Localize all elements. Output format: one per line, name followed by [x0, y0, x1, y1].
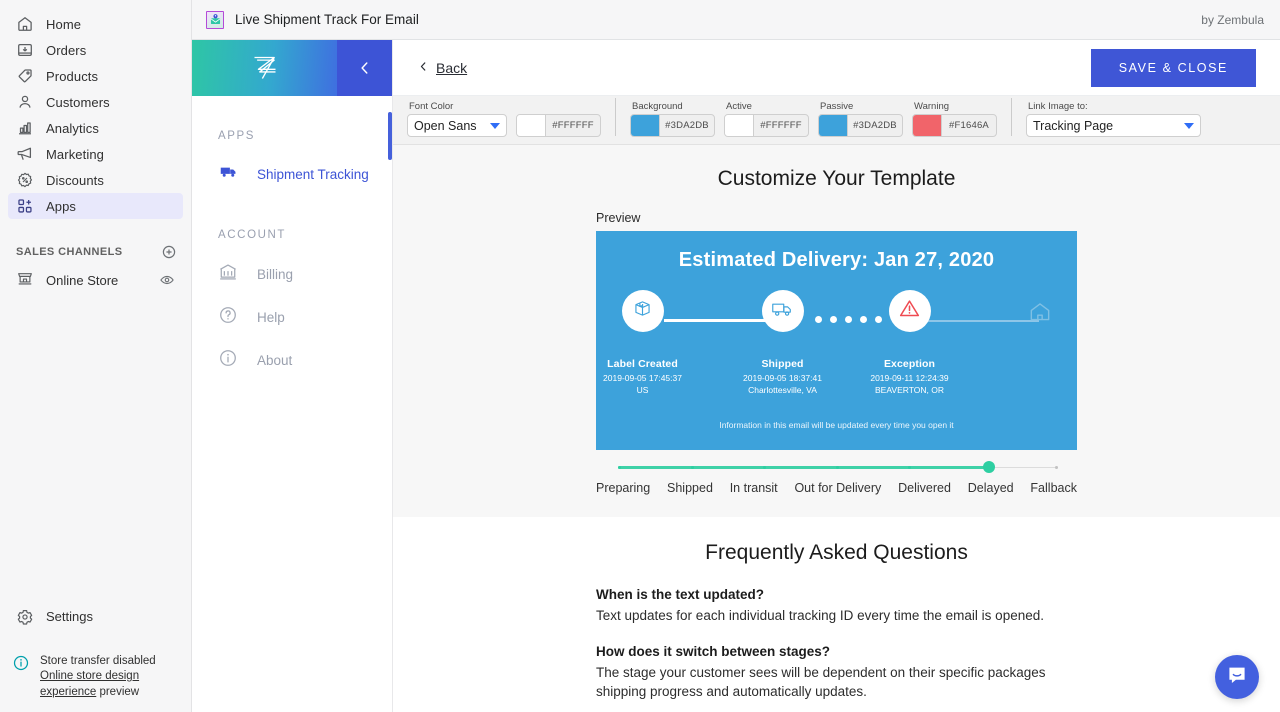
stage-slider-thumb[interactable]: [983, 461, 995, 473]
embedded-app: Live Shipment Track For Email by Zembula: [192, 0, 1280, 712]
faq-question: How does it switch between stages?: [596, 644, 1077, 659]
warning-swatch[interactable]: #F1646A: [912, 114, 997, 137]
store-transfer-line1: Store transfer disabled: [40, 655, 156, 667]
font-color-swatch-field: #FFFFFF: [516, 101, 601, 137]
step-name: Exception: [835, 358, 985, 370]
add-channel-plus-icon[interactable]: [161, 244, 177, 260]
link-image-field: Link Image to: Tracking Page: [1026, 101, 1201, 137]
font-color-field: Font Color Open Sans: [407, 101, 507, 137]
sales-channels-header: SALES CHANNELS: [0, 241, 191, 263]
faq-list: When is the text updated? Text updates f…: [596, 587, 1077, 701]
track-line-dim: [917, 320, 1039, 322]
stage-slider[interactable]: Preparing Shipped In transit Out for Del…: [596, 462, 1077, 495]
sidebar-item-label: Marketing: [46, 147, 104, 162]
stage-label-fallback[interactable]: Fallback: [1030, 481, 1077, 495]
stage-slider-remaining: [994, 467, 1055, 469]
step-label-label-created: Label Created 2019-09-05 17:45:37 US: [568, 358, 718, 396]
tracking-progress-graphic: [617, 290, 1057, 352]
chevron-down-icon: [1184, 123, 1194, 129]
discounts-percent-icon: [16, 171, 34, 189]
warning-label: Warning: [912, 101, 997, 112]
background-field: Background #3DA2DB: [630, 101, 715, 137]
app-title: Live Shipment Track For Email: [235, 12, 419, 27]
app-favicon-icon: [206, 11, 224, 29]
sidebar-item-products[interactable]: Products: [8, 63, 183, 89]
orders-icon: [16, 41, 34, 59]
sidebar-item-label: Online Store: [46, 273, 118, 288]
stage-label-delayed[interactable]: Delayed: [968, 481, 1014, 495]
warning-field: Warning #F1646A: [912, 101, 997, 137]
collapse-sidebar-button[interactable]: [337, 40, 392, 96]
colors-group: Background #3DA2DB Active #FFFFFF: [620, 101, 1007, 137]
stage-tick-1[interactable]: [691, 466, 694, 469]
step-name: Label Created: [568, 358, 718, 370]
app-sidebar-section-account: ACCOUNT: [192, 195, 392, 241]
stage-slider-track[interactable]: [618, 462, 1055, 472]
stage-tick-4[interactable]: [908, 466, 911, 469]
question-circle-icon: [218, 305, 240, 330]
link-image-label: Link Image to:: [1026, 101, 1201, 112]
customers-person-icon: [16, 93, 34, 111]
stage-slider-filled: [618, 466, 994, 469]
background-chip: [631, 115, 660, 136]
app-sidebar-item-label: Billing: [257, 267, 293, 282]
stage-label-preparing[interactable]: Preparing: [596, 481, 650, 495]
apps-grid-plus-icon: [16, 197, 34, 215]
estimated-delivery-headline: Estimated Delivery: Jan 27, 2020: [596, 249, 1077, 272]
package-box-icon: [632, 298, 653, 324]
app-root: Home Orders Products Customers: [0, 0, 1280, 712]
passive-swatch[interactable]: #3DA2DB: [818, 114, 903, 137]
app-sidebar-item-label: Help: [257, 310, 285, 325]
faq-answer: The stage your customer sees will be dep…: [596, 663, 1077, 701]
passive-field: Passive #3DA2DB: [818, 101, 903, 137]
faq-answer: Text updates for each individual trackin…: [596, 606, 1077, 625]
chat-bubble-smile-icon: [1225, 663, 1249, 692]
truck-icon: [771, 299, 794, 324]
sidebar-item-analytics[interactable]: Analytics: [8, 115, 183, 141]
warning-hex: #F1646A: [942, 120, 996, 131]
marketing-megaphone-icon: [16, 145, 34, 163]
track-line-1: [664, 319, 779, 322]
app-sidebar-item-billing[interactable]: Billing: [192, 253, 392, 296]
sidebar-item-label: Home: [46, 17, 81, 32]
analytics-bars-icon: [16, 119, 34, 137]
passive-label: Passive: [818, 101, 903, 112]
warning-triangle-icon: [898, 297, 921, 325]
sidebar-item-label: Customers: [46, 95, 110, 110]
app-brand-bar: [192, 40, 392, 96]
link-image-value: Tracking Page: [1033, 119, 1180, 133]
link-image-group: Link Image to: Tracking Page: [1016, 101, 1211, 137]
sidebar-bottom: Settings Store transfer disabled Online …: [0, 604, 192, 712]
sidebar-item-home[interactable]: Home: [8, 11, 183, 37]
stage-tick-3[interactable]: [836, 466, 839, 469]
stage-label-out-for-delivery[interactable]: Out for Delivery: [794, 481, 881, 495]
passive-hex: #3DA2DB: [848, 120, 902, 131]
customize-section: Customize Your Template Preview Estimate…: [393, 145, 1280, 517]
sidebar-item-label: Apps: [46, 199, 76, 214]
passive-chip: [819, 115, 848, 136]
faq-question: When is the text updated?: [596, 587, 1077, 602]
stage-label-delivered[interactable]: Delivered: [898, 481, 951, 495]
step-location: US: [568, 385, 718, 397]
email-preview-card: Estimated Delivery: Jan 27, 2020: [596, 231, 1077, 450]
faq-item: How does it switch between stages? The s…: [596, 644, 1077, 701]
font-color-label: Font Color: [407, 101, 507, 112]
active-label: Active: [724, 101, 809, 112]
step-node-shipped: [762, 290, 804, 332]
active-hex: #FFFFFF: [754, 120, 808, 131]
font-family-select[interactable]: Open Sans: [407, 114, 507, 137]
app-sidebar-item-label: Shipment Tracking: [257, 167, 369, 182]
app-sidebar-scrollbar[interactable]: [388, 112, 392, 160]
track-dots: [815, 316, 882, 323]
app-topbar: Live Shipment Track For Email by Zembula: [192, 0, 1280, 40]
font-color-chip: [517, 115, 546, 136]
store-transfer-text: Store transfer disabled Online store des…: [40, 654, 182, 701]
sidebar-item-discounts[interactable]: Discounts: [8, 167, 183, 193]
products-tag-icon: [16, 67, 34, 85]
step-timestamp: 2019-09-11 12:24:39: [835, 373, 985, 385]
settings-label: Settings: [46, 609, 93, 624]
step-location: BEAVERTON, OR: [835, 385, 985, 397]
info-circle-icon: [218, 348, 240, 373]
toolbar-divider: [615, 98, 616, 136]
email-footer-note: Information in this email will be update…: [596, 420, 1077, 430]
sidebar-item-settings[interactable]: Settings: [8, 604, 184, 630]
app-sidebar-item-help[interactable]: Help: [192, 296, 392, 339]
step-node-label-created: [622, 290, 664, 332]
font-family-value: Open Sans: [414, 119, 486, 133]
primary-nav-list: Home Orders Products Customers: [0, 0, 191, 219]
app-sidebar-item-shipment-tracking[interactable]: Shipment Tracking: [192, 154, 392, 195]
font-color-swatch[interactable]: #FFFFFF: [516, 114, 601, 137]
background-label: Background: [630, 101, 715, 112]
sidebar-item-label: Orders: [46, 43, 86, 58]
editor-canvas: Customize Your Template Preview Estimate…: [393, 145, 1280, 712]
intercom-launcher-button[interactable]: [1215, 655, 1259, 699]
preview-label: Preview: [596, 211, 1077, 225]
stage-tick-0[interactable]: [618, 466, 621, 469]
app-sidebar-item-about[interactable]: About: [192, 339, 392, 382]
chevron-down-icon: [490, 123, 500, 129]
sidebar-item-online-store[interactable]: Online Store: [8, 267, 183, 293]
sidebar-item-apps[interactable]: Apps: [8, 193, 183, 219]
stage-tick-2[interactable]: [763, 466, 766, 469]
active-field: Active #FFFFFF: [724, 101, 809, 137]
page-title: Customize Your Template: [393, 167, 1280, 191]
online-store-icon: [16, 269, 34, 292]
save-and-close-button[interactable]: SAVE & CLOSE: [1091, 49, 1256, 87]
background-hex: #3DA2DB: [660, 120, 714, 131]
preview-suffix: preview: [96, 686, 139, 698]
sales-channels-label: SALES CHANNELS: [16, 246, 122, 258]
sidebar-item-label: Discounts: [46, 173, 104, 188]
editor-header: Back SAVE & CLOSE: [393, 40, 1280, 96]
stage-label-in-transit[interactable]: In transit: [730, 481, 778, 495]
toolbar-divider-2: [1011, 98, 1012, 136]
back-button[interactable]: Back: [417, 60, 467, 76]
sidebar-item-orders[interactable]: Orders: [8, 37, 183, 63]
sidebar-item-label: Analytics: [46, 121, 99, 136]
faq-title: Frequently Asked Questions: [393, 541, 1280, 565]
app-sidebar-item-label: About: [257, 353, 292, 368]
back-label: Back: [436, 60, 467, 76]
tracking-step-labels: Label Created 2019-09-05 17:45:37 US Shi…: [617, 358, 1057, 404]
bank-icon: [218, 262, 240, 287]
template-editor: Back SAVE & CLOSE Font Color Open Sans: [393, 40, 1280, 712]
app-sidebar: APPS Shipment Tracking ACCOUNT Billing: [192, 40, 393, 712]
sidebar-item-label: Products: [46, 69, 98, 84]
step-timestamp: 2019-09-05 17:45:37: [568, 373, 718, 385]
info-circle-icon: [12, 654, 30, 677]
step-label-exception: Exception 2019-09-11 12:24:39 BEAVERTON,…: [835, 358, 985, 396]
app-byline: by Zembula: [1201, 13, 1264, 27]
gear-icon: [16, 608, 34, 626]
faq-section: Frequently Asked Questions When is the t…: [393, 517, 1280, 701]
stage-tick-6[interactable]: [1055, 466, 1058, 469]
faq-item: When is the text updated? Text updates f…: [596, 587, 1077, 625]
zembula-logo-icon: [192, 40, 337, 96]
eye-icon[interactable]: [159, 272, 175, 288]
active-chip: [725, 115, 754, 136]
home-icon: [16, 15, 34, 33]
app-body: APPS Shipment Tracking ACCOUNT Billing: [192, 40, 1280, 712]
chevron-left-icon: [417, 60, 430, 76]
warning-chip: [913, 115, 942, 136]
shopify-sidebar: Home Orders Products Customers: [0, 0, 192, 712]
style-toolbar: Font Color Open Sans #FFFFFF: [393, 96, 1280, 145]
active-swatch[interactable]: #FFFFFF: [724, 114, 809, 137]
home-outline-icon: [1027, 312, 1053, 329]
link-image-select[interactable]: Tracking Page: [1026, 114, 1201, 137]
sidebar-item-customers[interactable]: Customers: [8, 89, 183, 115]
font-group: Font Color Open Sans #FFFFFF: [403, 101, 611, 137]
spacer-label: [516, 101, 601, 112]
stage-label-shipped[interactable]: Shipped: [667, 481, 713, 495]
sidebar-item-marketing[interactable]: Marketing: [8, 141, 183, 167]
stage-slider-labels: Preparing Shipped In transit Out for Del…: [596, 481, 1077, 495]
truck-icon: [218, 163, 240, 186]
store-transfer-notice: Store transfer disabled Online store des…: [0, 644, 192, 712]
app-sidebar-section-apps: APPS: [192, 96, 392, 142]
font-color-hex: #FFFFFF: [546, 120, 600, 131]
step-node-exception: [889, 290, 931, 332]
background-swatch[interactable]: #3DA2DB: [630, 114, 715, 137]
step-node-home: [1027, 299, 1053, 330]
